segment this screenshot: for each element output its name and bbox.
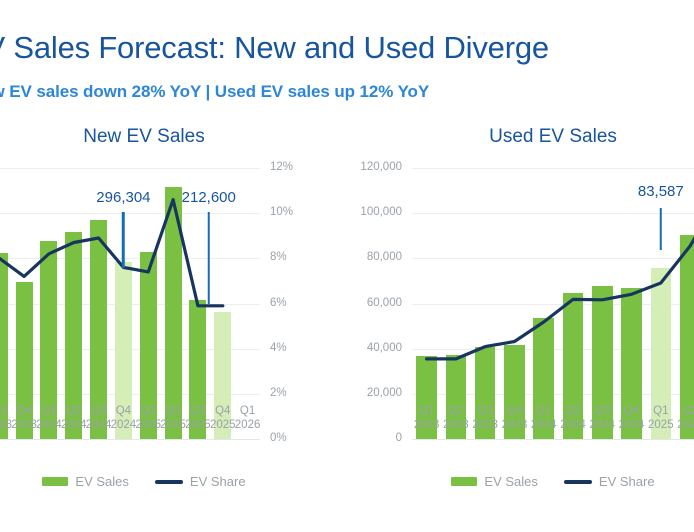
x-axis-tick-label: Q42024 [111,404,137,432]
callout-leader-line [208,212,211,304]
y-axis-tick-label: 10% [270,207,293,219]
legend-label-ev-sales: EV Sales [484,474,537,489]
y-axis-tick-label: 60,000 [367,298,402,310]
y-axis-tick-label: 8% [270,252,287,264]
x-axis-tick-label: Q12024 [531,404,557,432]
chart-title-new-ev-sales: New EV Sales [0,126,350,148]
legend-item-ev-sales[interactable]: EV Sales [451,474,537,489]
legend-item-ev-sales[interactable]: EV Sales [42,474,128,489]
x-axis-tick-label: Q42025 [210,404,236,432]
x-axis-tick-label: Q42023 [11,404,37,432]
y-axis-tick-label: 40,000 [367,343,402,355]
x-axis-tick-label: Q12023 [414,404,440,432]
chart-title-used-ev-sales: Used EV Sales [350,126,694,148]
callout-label: 296,304 [96,190,150,205]
x-axis-tick-label: Q22023 [443,404,469,432]
legend-label-ev-share: EV Share [190,474,246,489]
x-axis-tick-label: Q12024 [36,404,62,432]
x-axis-tick-label: Q22024 [61,404,87,432]
x-axis-tick-label: Q22025 [160,404,186,432]
callout-label: 83,587 [638,184,684,199]
x-axis-tick-label: Q12026 [235,404,261,432]
x-axis-used: Q12023Q22023Q32023Q42023Q12024Q22024Q320… [350,398,694,438]
page-subtitle: New EV sales down 28% YoY | Used EV sale… [0,82,429,102]
x-axis-new: Q22023Q32023Q42023Q12024Q22024Q32024Q420… [0,398,350,438]
legend-item-ev-share[interactable]: EV Share [155,474,246,489]
callout-leader-line [660,208,663,250]
callout-label: 212,600 [182,190,236,205]
callout-leader-line [122,212,125,268]
x-axis-tick-label: Q32023 [0,404,12,432]
page-title: EV Sales Forecast: New and Used Diverge [0,30,549,66]
bar-swatch-icon [451,477,477,486]
y-axis-tick-label: 12% [270,162,293,174]
x-axis-tick-label: Q12025 [135,404,161,432]
line-swatch-icon [564,480,592,484]
x-axis-tick-label: Q12025 [648,404,674,432]
x-axis-tick-label: Q42024 [619,404,645,432]
axis-baseline-new [0,439,260,440]
x-axis-tick-label: Q22025 [677,404,694,432]
legend-item-ev-share[interactable]: EV Share [564,474,655,489]
x-axis-tick-label: Q22024 [560,404,586,432]
x-axis-tick-label: Q42023 [502,404,528,432]
axis-baseline-used [412,439,694,440]
legend-label-ev-sales: EV Sales [75,474,128,489]
chart-panel-new-ev-sales: New EV Sales 12%10%8%6%4%2%0% 296,304212… [0,126,350,532]
legend-label-ev-share: EV Share [599,474,655,489]
x-axis-tick-label: Q32025 [185,404,211,432]
legend-new: EV Sales EV Share [0,474,350,489]
y-axis-tick-label: 6% [270,298,287,310]
x-axis-tick-label: Q32023 [472,404,498,432]
line-swatch-icon [155,480,183,484]
y-axis-tick-label: 100,000 [360,207,402,219]
x-axis-tick-label: Q32024 [589,404,615,432]
y-axis-tick-label: 80,000 [367,252,402,264]
x-axis-tick-label: Q32024 [86,404,112,432]
y-axis-tick-label: 4% [270,343,287,355]
chart-panel-used-ev-sales: Used EV Sales 120,000100,00080,00060,000… [350,126,694,532]
y-axis-tick-label: 120,000 [360,162,402,174]
legend-used: EV Sales EV Share [350,474,694,489]
bar-swatch-icon [42,477,68,486]
